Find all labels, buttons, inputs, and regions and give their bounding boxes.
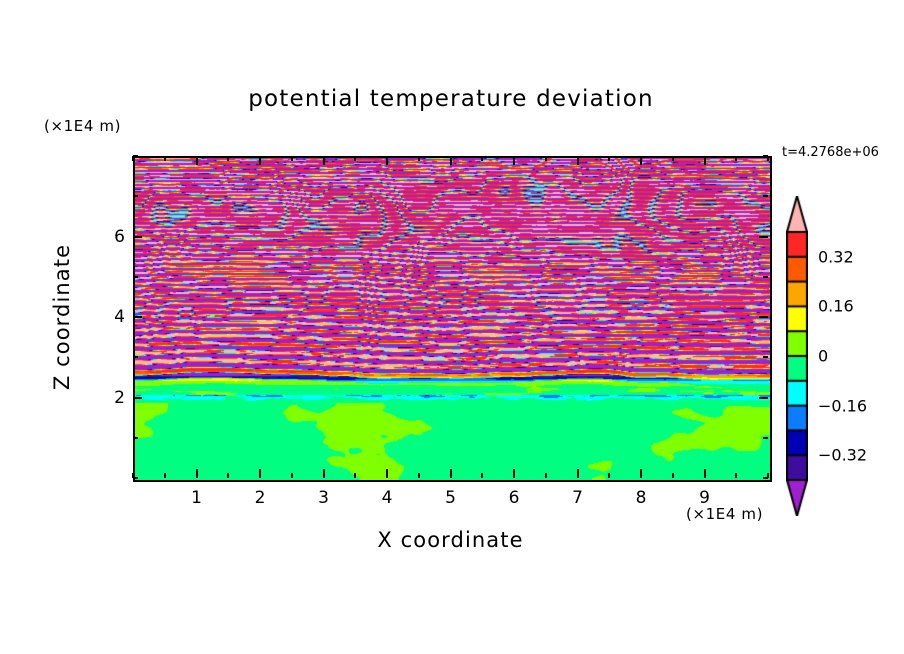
x-major-tick-top bbox=[513, 156, 515, 165]
y-major-tick-right bbox=[759, 236, 768, 238]
x-minor-tick-top bbox=[608, 156, 610, 161]
x-major-tick bbox=[577, 469, 579, 478]
y-minor-tick-right bbox=[763, 276, 768, 278]
x-tick-label: 6 bbox=[509, 488, 520, 508]
y-major-tick bbox=[133, 236, 142, 238]
y-axis-title: Z coordinate bbox=[50, 244, 74, 390]
colorbar bbox=[786, 196, 808, 516]
x-minor-tick-top bbox=[291, 156, 293, 161]
x-minor-tick bbox=[418, 473, 420, 478]
x-major-tick bbox=[323, 469, 325, 478]
y-minor-tick bbox=[133, 155, 138, 157]
x-major-tick bbox=[196, 469, 198, 478]
x-minor-tick bbox=[164, 473, 166, 478]
x-major-tick-top bbox=[450, 156, 452, 165]
colorbar-gradient bbox=[786, 196, 808, 516]
x-tick-label: 5 bbox=[445, 488, 456, 508]
y-minor-tick-right bbox=[763, 155, 768, 157]
contour-plot-area bbox=[133, 156, 772, 482]
colorbar-tick-label: 0.16 bbox=[818, 297, 854, 316]
y-major-tick-right bbox=[759, 316, 768, 318]
x-tick-label: 2 bbox=[255, 488, 266, 508]
y-axis-unit-label: (×1E4 m) bbox=[44, 117, 121, 135]
y-minor-tick-right bbox=[763, 356, 768, 358]
x-major-tick bbox=[640, 469, 642, 478]
x-minor-tick bbox=[227, 473, 229, 478]
y-major-tick-right bbox=[759, 397, 768, 399]
x-major-tick bbox=[386, 469, 388, 478]
x-minor-tick-top bbox=[545, 156, 547, 161]
y-tick-label: 4 bbox=[103, 307, 125, 327]
colorbar-tick-label: −0.16 bbox=[818, 396, 867, 415]
x-major-tick-top bbox=[323, 156, 325, 165]
colorbar-tick-label: 0 bbox=[818, 347, 828, 366]
colorbar-tick-label: 0.32 bbox=[818, 247, 854, 266]
x-tick-label: 9 bbox=[699, 488, 710, 508]
y-minor-tick bbox=[133, 477, 138, 479]
y-minor-tick-right bbox=[763, 477, 768, 479]
x-minor-tick-top bbox=[418, 156, 420, 161]
y-major-tick bbox=[133, 397, 142, 399]
x-axis-title: X coordinate bbox=[133, 528, 768, 552]
x-minor-tick-top bbox=[481, 156, 483, 161]
x-minor-tick bbox=[735, 473, 737, 478]
y-tick-label: 6 bbox=[103, 227, 125, 247]
y-major-tick bbox=[133, 316, 142, 318]
x-tick-label: 4 bbox=[382, 488, 393, 508]
y-minor-tick bbox=[133, 276, 138, 278]
figure-canvas: potential temperature deviation (×1E4 m)… bbox=[0, 0, 904, 654]
colorbar-tick-label: −0.32 bbox=[818, 446, 867, 465]
x-minor-tick-top bbox=[227, 156, 229, 161]
contour-field bbox=[135, 158, 770, 480]
y-minor-tick-right bbox=[763, 195, 768, 197]
x-major-tick-top bbox=[640, 156, 642, 165]
x-tick-label: 1 bbox=[191, 488, 202, 508]
x-minor-tick bbox=[545, 473, 547, 478]
x-minor-tick-top bbox=[672, 156, 674, 161]
x-major-tick-top bbox=[704, 156, 706, 165]
x-major-tick bbox=[704, 469, 706, 478]
x-tick-label: 3 bbox=[318, 488, 329, 508]
x-major-tick-top bbox=[259, 156, 261, 165]
x-minor-tick bbox=[481, 473, 483, 478]
x-major-tick-top bbox=[577, 156, 579, 165]
x-major-tick-top bbox=[386, 156, 388, 165]
x-minor-tick bbox=[672, 473, 674, 478]
x-major-tick bbox=[513, 469, 515, 478]
page-title: potential temperature deviation bbox=[133, 86, 769, 112]
x-minor-tick-top bbox=[164, 156, 166, 161]
x-major-tick-top bbox=[196, 156, 198, 165]
x-axis-unit-label: (×1E4 m) bbox=[686, 505, 763, 523]
x-minor-tick-top bbox=[735, 156, 737, 161]
x-tick-label: 8 bbox=[636, 488, 647, 508]
x-tick-label: 7 bbox=[572, 488, 583, 508]
time-annotation: t=4.2768e+06 bbox=[782, 145, 879, 160]
x-minor-tick bbox=[608, 473, 610, 478]
x-minor-tick bbox=[291, 473, 293, 478]
x-major-tick bbox=[450, 469, 452, 478]
x-minor-tick-top bbox=[354, 156, 356, 161]
x-major-tick bbox=[259, 469, 261, 478]
y-minor-tick bbox=[133, 356, 138, 358]
y-tick-label: 2 bbox=[103, 388, 125, 408]
x-minor-tick bbox=[354, 473, 356, 478]
y-minor-tick bbox=[133, 195, 138, 197]
y-minor-tick-right bbox=[763, 437, 768, 439]
y-minor-tick bbox=[133, 437, 138, 439]
